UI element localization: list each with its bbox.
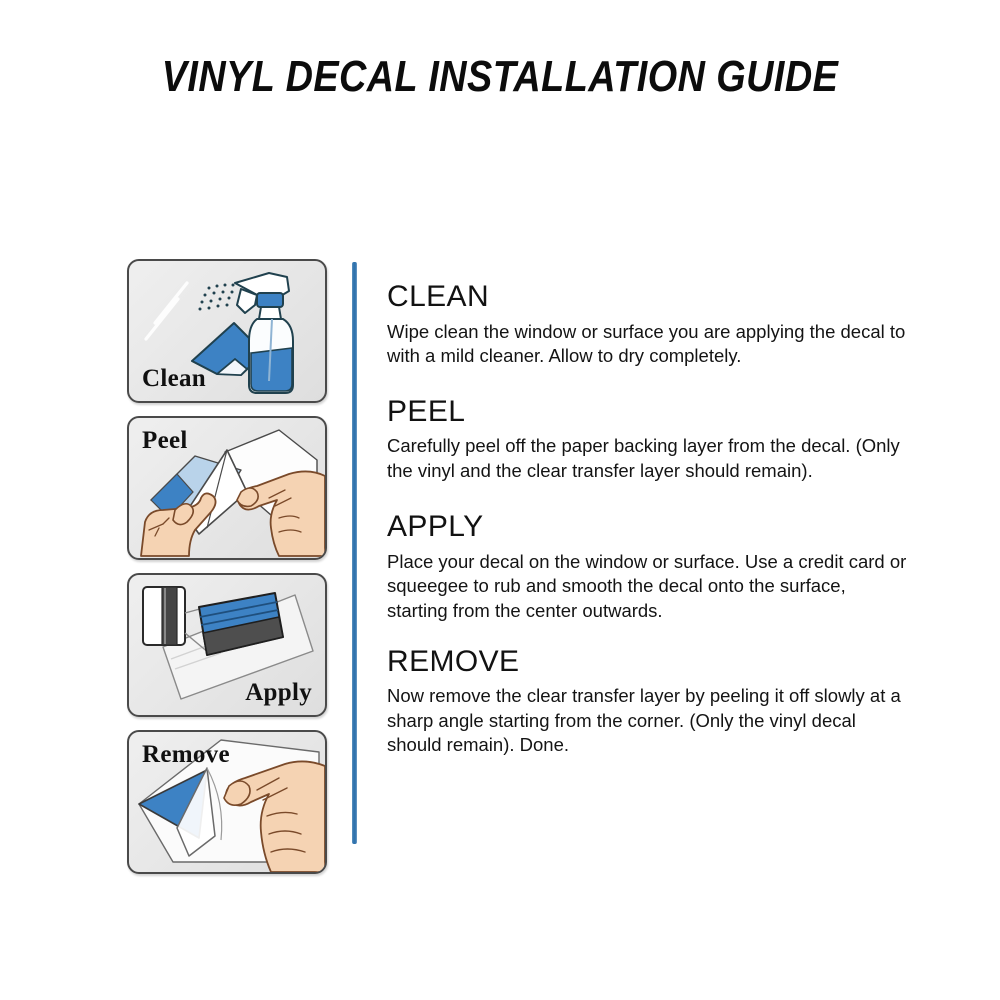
step-heading-remove: REMOVE: [387, 646, 917, 678]
step-body-remove: Now remove the clear transfer layer by p…: [387, 684, 909, 758]
step-remove: REMOVE Now remove the clear transfer lay…: [387, 646, 917, 758]
panel-label-remove: Remove: [142, 742, 230, 767]
step-body-apply: Place your decal on the window or surfac…: [387, 550, 909, 624]
step-heading-apply: APPLY: [387, 511, 917, 543]
panel-label-apply: Apply: [245, 680, 312, 705]
illustration-panel-column: Clean: [127, 259, 327, 887]
panel-label-peel: Peel: [142, 428, 188, 453]
panel-label-clean: Clean: [142, 366, 206, 391]
step-heading-peel: PEEL: [387, 396, 917, 428]
step-heading-clean: CLEAN: [387, 281, 917, 313]
panel-remove[interactable]: Remove: [127, 730, 327, 874]
step-body-clean: Wipe clean the window or surface you are…: [387, 320, 909, 369]
panel-clean[interactable]: Clean: [127, 259, 327, 403]
step-clean: CLEAN Wipe clean the window or surface y…: [387, 281, 917, 369]
steps-column: CLEAN Wipe clean the window or surface y…: [387, 281, 917, 781]
panel-apply[interactable]: Apply: [127, 573, 327, 717]
vertical-blue-divider: [352, 262, 357, 844]
panel-peel[interactable]: Peel: [127, 416, 327, 560]
step-apply: APPLY Place your decal on the window or …: [387, 511, 917, 623]
credit-card: [143, 587, 185, 645]
step-peel: PEEL Carefully peel off the paper backin…: [387, 396, 917, 484]
page-title: VINYL DECAL INSTALLATION GUIDE: [70, 52, 930, 102]
step-body-peel: Carefully peel off the paper backing lay…: [387, 434, 909, 483]
